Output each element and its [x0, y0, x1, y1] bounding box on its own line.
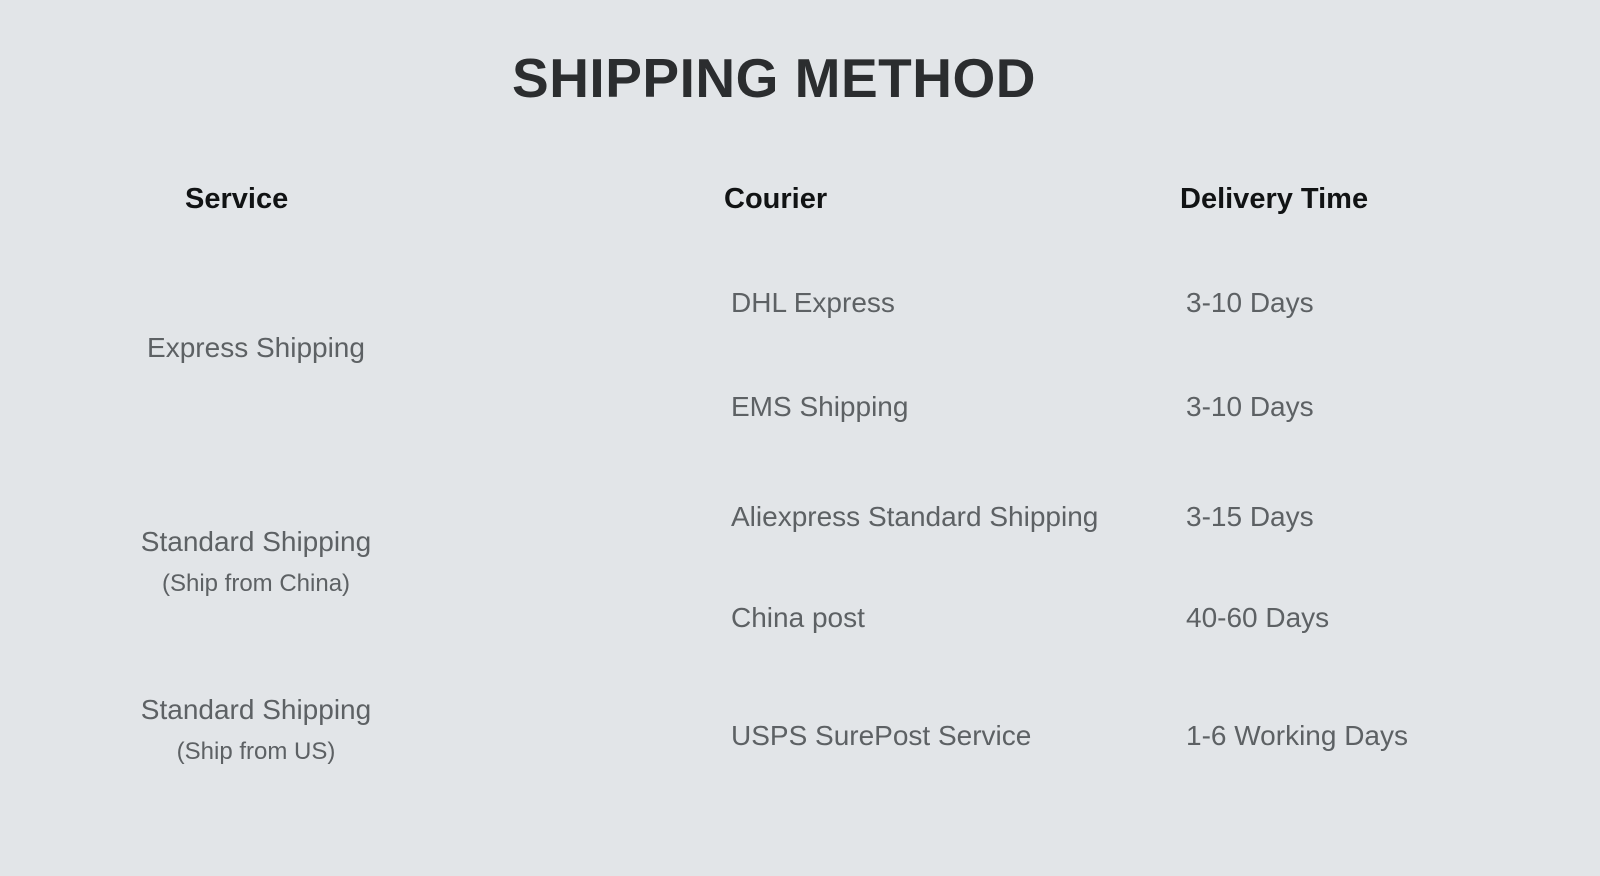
courier-cell: China post	[731, 604, 865, 632]
delivery-time-cell: 40-60 Days	[1186, 604, 1329, 632]
service-name: Standard Shipping	[96, 528, 416, 556]
service-name: Standard Shipping	[96, 696, 416, 724]
delivery-time-cell: 3-15 Days	[1186, 503, 1314, 531]
courier-cell: Aliexpress Standard Shipping	[731, 503, 1098, 531]
shipping-method-page: SHIPPING METHOD Service Courier Delivery…	[0, 0, 1600, 876]
delivery-time-cell: 3-10 Days	[1186, 393, 1314, 421]
courier-cell: EMS Shipping	[731, 393, 908, 421]
page-title: SHIPPING METHOD	[0, 48, 1548, 109]
service-cell-express: Express Shipping	[96, 334, 416, 362]
service-cell-standard-us: Standard Shipping (Ship from US)	[96, 696, 416, 764]
delivery-time-cell: 3-10 Days	[1186, 289, 1314, 317]
service-cell-standard-china: Standard Shipping (Ship from China)	[96, 528, 416, 596]
column-header-delivery-time: Delivery Time	[1180, 185, 1368, 214]
service-name: Express Shipping	[96, 334, 416, 362]
delivery-time-cell: 1-6 Working Days	[1186, 722, 1408, 750]
courier-cell: USPS SurePost Service	[731, 722, 1031, 750]
service-note: (Ship from US)	[96, 740, 416, 764]
courier-cell: DHL Express	[731, 289, 895, 317]
column-header-courier: Courier	[724, 185, 827, 214]
column-header-service: Service	[185, 185, 288, 214]
service-note: (Ship from China)	[96, 572, 416, 596]
